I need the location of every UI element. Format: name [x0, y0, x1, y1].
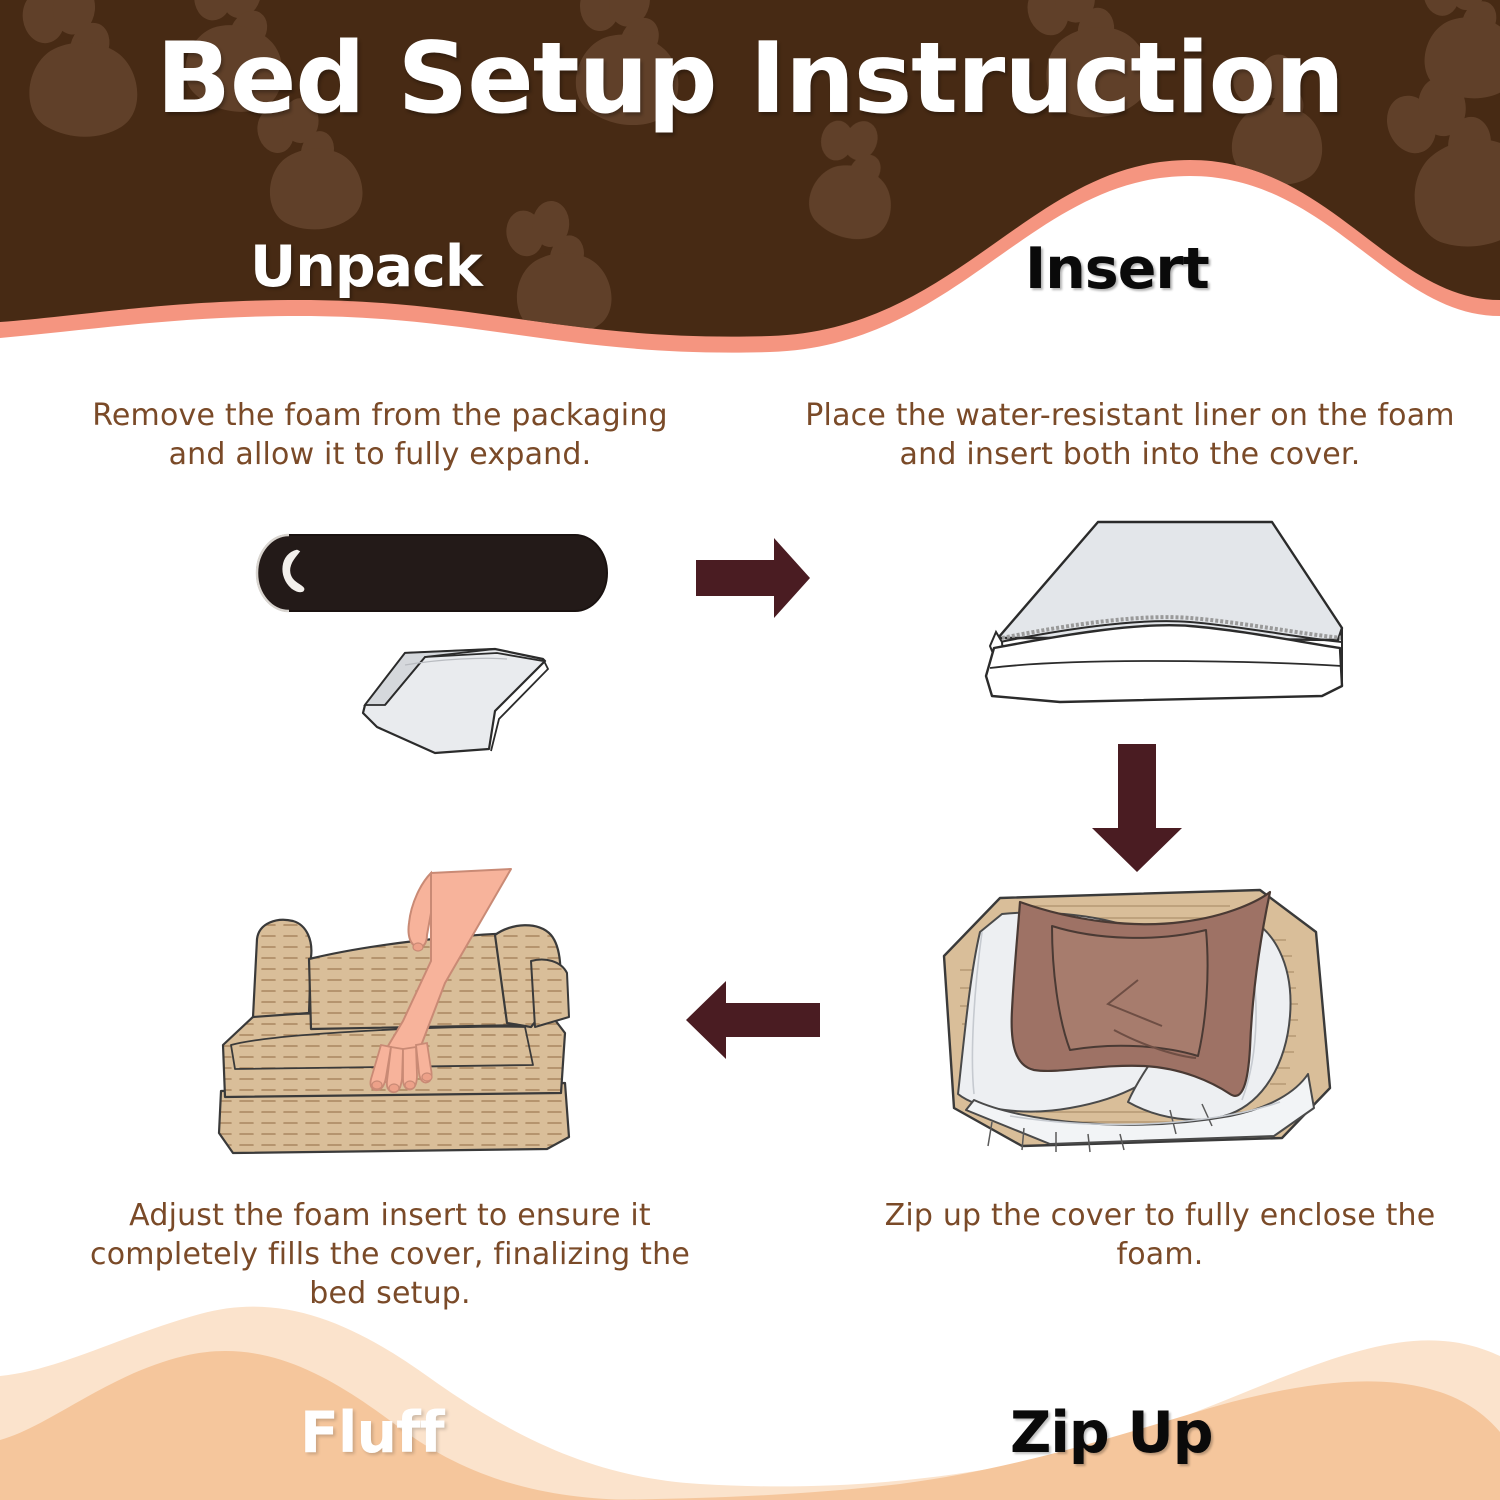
step-label-zipup: Zip Up [1010, 1400, 1213, 1466]
arrow-zipup-to-fluff-icon [678, 975, 838, 1070]
caption-zipup: Zip up the cover to fully enclose the fo… [850, 1196, 1470, 1274]
arrow-insert-to-zipup-icon [1078, 730, 1198, 885]
illustration-hand-pressing-foam-bed [195, 865, 625, 1175]
folded-liner-icon [363, 649, 548, 753]
illustration-open-cover-with-foam [930, 870, 1370, 1185]
poster-canvas: Bed Setup Instruction Unpack Insert Remo… [0, 0, 1500, 1500]
page-title: Bed Setup Instruction [0, 22, 1500, 136]
arrow-unpack-to-insert-icon [678, 528, 818, 633]
footer-wave-graphic [0, 1300, 1500, 1500]
caption-fluff: Adjust the foam insert to ensure it comp… [70, 1196, 710, 1313]
step-label-unpack: Unpack [250, 234, 482, 300]
illustration-rolled-foam-and-liner [245, 505, 645, 760]
caption-insert: Place the water-resistant liner on the f… [805, 396, 1455, 474]
step-label-insert: Insert [1025, 236, 1209, 302]
illustration-mattress-with-zipper [890, 500, 1360, 720]
rolled-foam-icon [257, 535, 607, 611]
step-label-fluff: Fluff [300, 1400, 444, 1466]
footer-banner [0, 1300, 1500, 1500]
caption-unpack: Remove the foam from the packaging and a… [60, 396, 700, 474]
